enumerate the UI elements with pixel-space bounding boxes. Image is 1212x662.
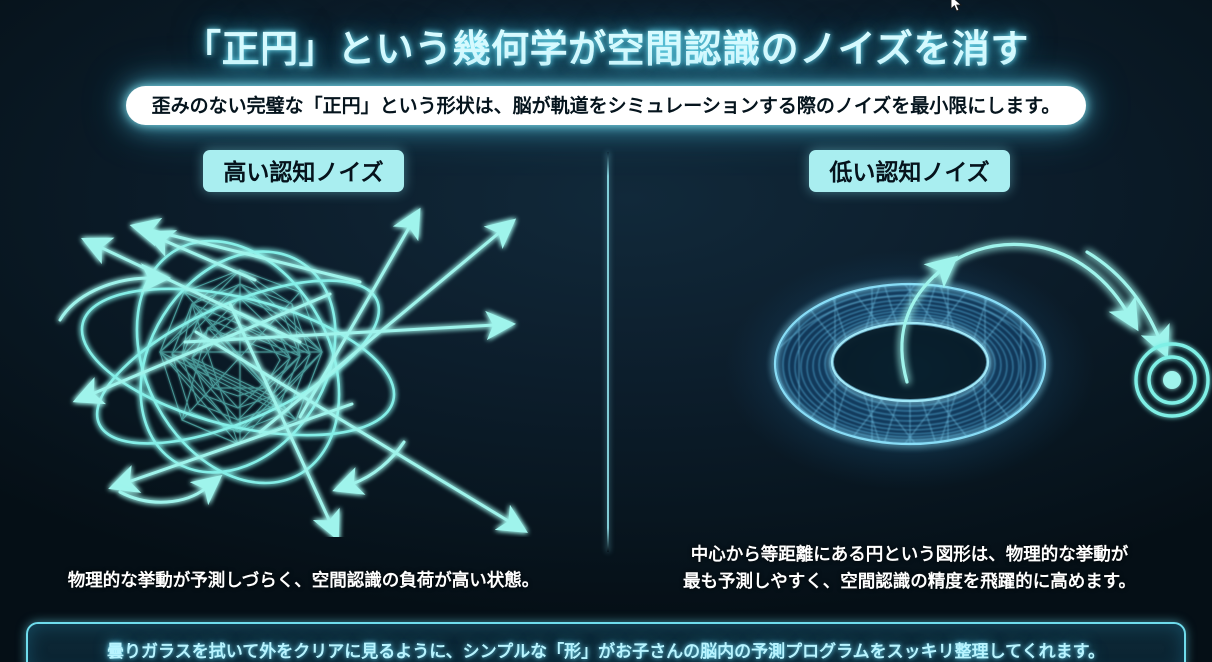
subtitle-row: 歪みのない完璧な「正円」という形状は、脳が軌道をシミュレーションする際のノイズを… — [0, 86, 1212, 125]
footer-text: 曇りガラスを拭いて外をクリアに見るように、シンプルな「形」がお子さんの脳内の予測… — [107, 637, 1105, 662]
badge-row-right: 低い認知ノイズ — [607, 150, 1212, 192]
footer-banner: 曇りガラスを拭いて外をクリアに見るように、シンプルな「形」がお子さんの脳内の予測… — [26, 622, 1186, 662]
badge-row-left: 高い認知ノイズ — [0, 150, 607, 192]
subtitle-pill: 歪みのない完璧な「正円」という形状は、脳が軌道をシミュレーションする際のノイズを… — [126, 86, 1087, 125]
chaotic-orbits-diagram — [0, 192, 607, 537]
caption-low-noise: 中心から等距離にある円という図形は、物理的な挙動が 最も予測しやすく、空間認識の… — [607, 542, 1212, 596]
status-badge-low-noise: 低い認知ノイズ — [809, 150, 1009, 192]
infographic-slide: 「正円」という幾何学が空間認識のノイズを消す 歪みのない完璧な「正円」という形状… — [0, 0, 1212, 662]
torus-trajectory-diagram — [607, 192, 1212, 522]
panel-high-noise: 高い認知ノイズ — [0, 150, 607, 620]
panel-low-noise: 低い認知ノイズ — [607, 150, 1212, 620]
status-badge-high-noise: 高い認知ノイズ — [203, 150, 403, 192]
bullseye-target-icon — [1136, 344, 1208, 416]
caption-high-noise: 物理的な挙動が予測しづらく、空間認識の負荷が高い状態。 — [0, 568, 607, 595]
mouse-cursor-icon — [950, 0, 964, 14]
chaotic-orbits-svg — [0, 192, 607, 537]
page-title: 「正円」という幾何学が空間認識のノイズを消す — [0, 18, 1212, 73]
caption-line-2: 最も予測しやすく、空間認識の精度を飛躍的に高めます。 — [607, 569, 1212, 596]
torus-trajectory-svg — [607, 192, 1212, 522]
caption-line-1: 中心から等距離にある円という図形は、物理的な挙動が — [607, 542, 1212, 569]
